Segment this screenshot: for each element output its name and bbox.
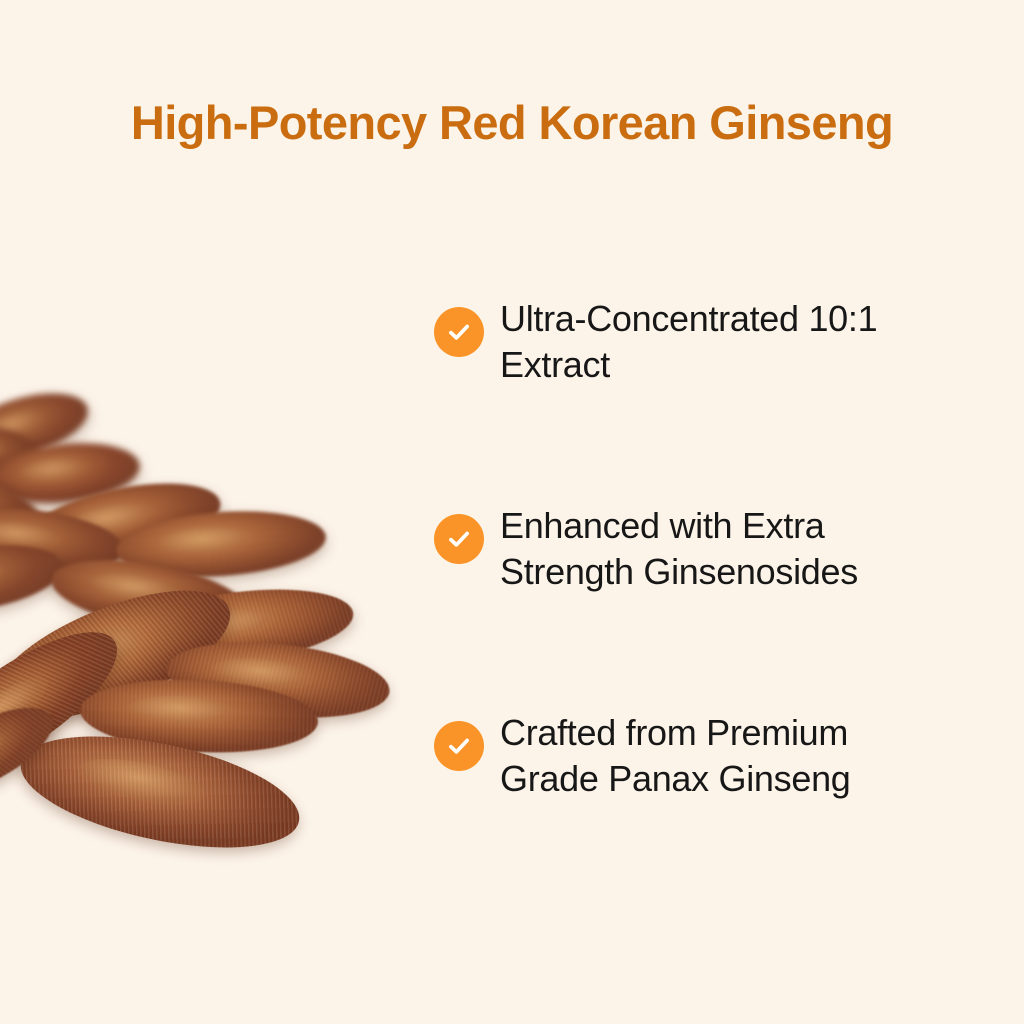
benefits-list: Ultra-Concentrated 10:1 Extract Enhanced… <box>434 296 914 802</box>
check-icon <box>434 514 484 564</box>
page-title: High-Potency Red Korean Ginseng <box>0 98 1024 147</box>
list-item: Crafted from Premium Grade Panax Ginseng <box>434 710 914 802</box>
product-image <box>0 392 400 892</box>
benefit-text: Ultra-Concentrated 10:1 Extract <box>500 296 910 388</box>
benefit-text: Crafted from Premium Grade Panax Ginseng <box>500 710 910 802</box>
list-item: Enhanced with Extra Strength Ginsenoside… <box>434 503 914 595</box>
check-icon <box>434 721 484 771</box>
list-item: Ultra-Concentrated 10:1 Extract <box>434 296 914 388</box>
infographic-canvas: High-Potency Red Korean Ginseng <box>0 0 1024 1024</box>
benefit-text: Enhanced with Extra Strength Ginsenoside… <box>500 503 910 595</box>
check-icon <box>434 307 484 357</box>
